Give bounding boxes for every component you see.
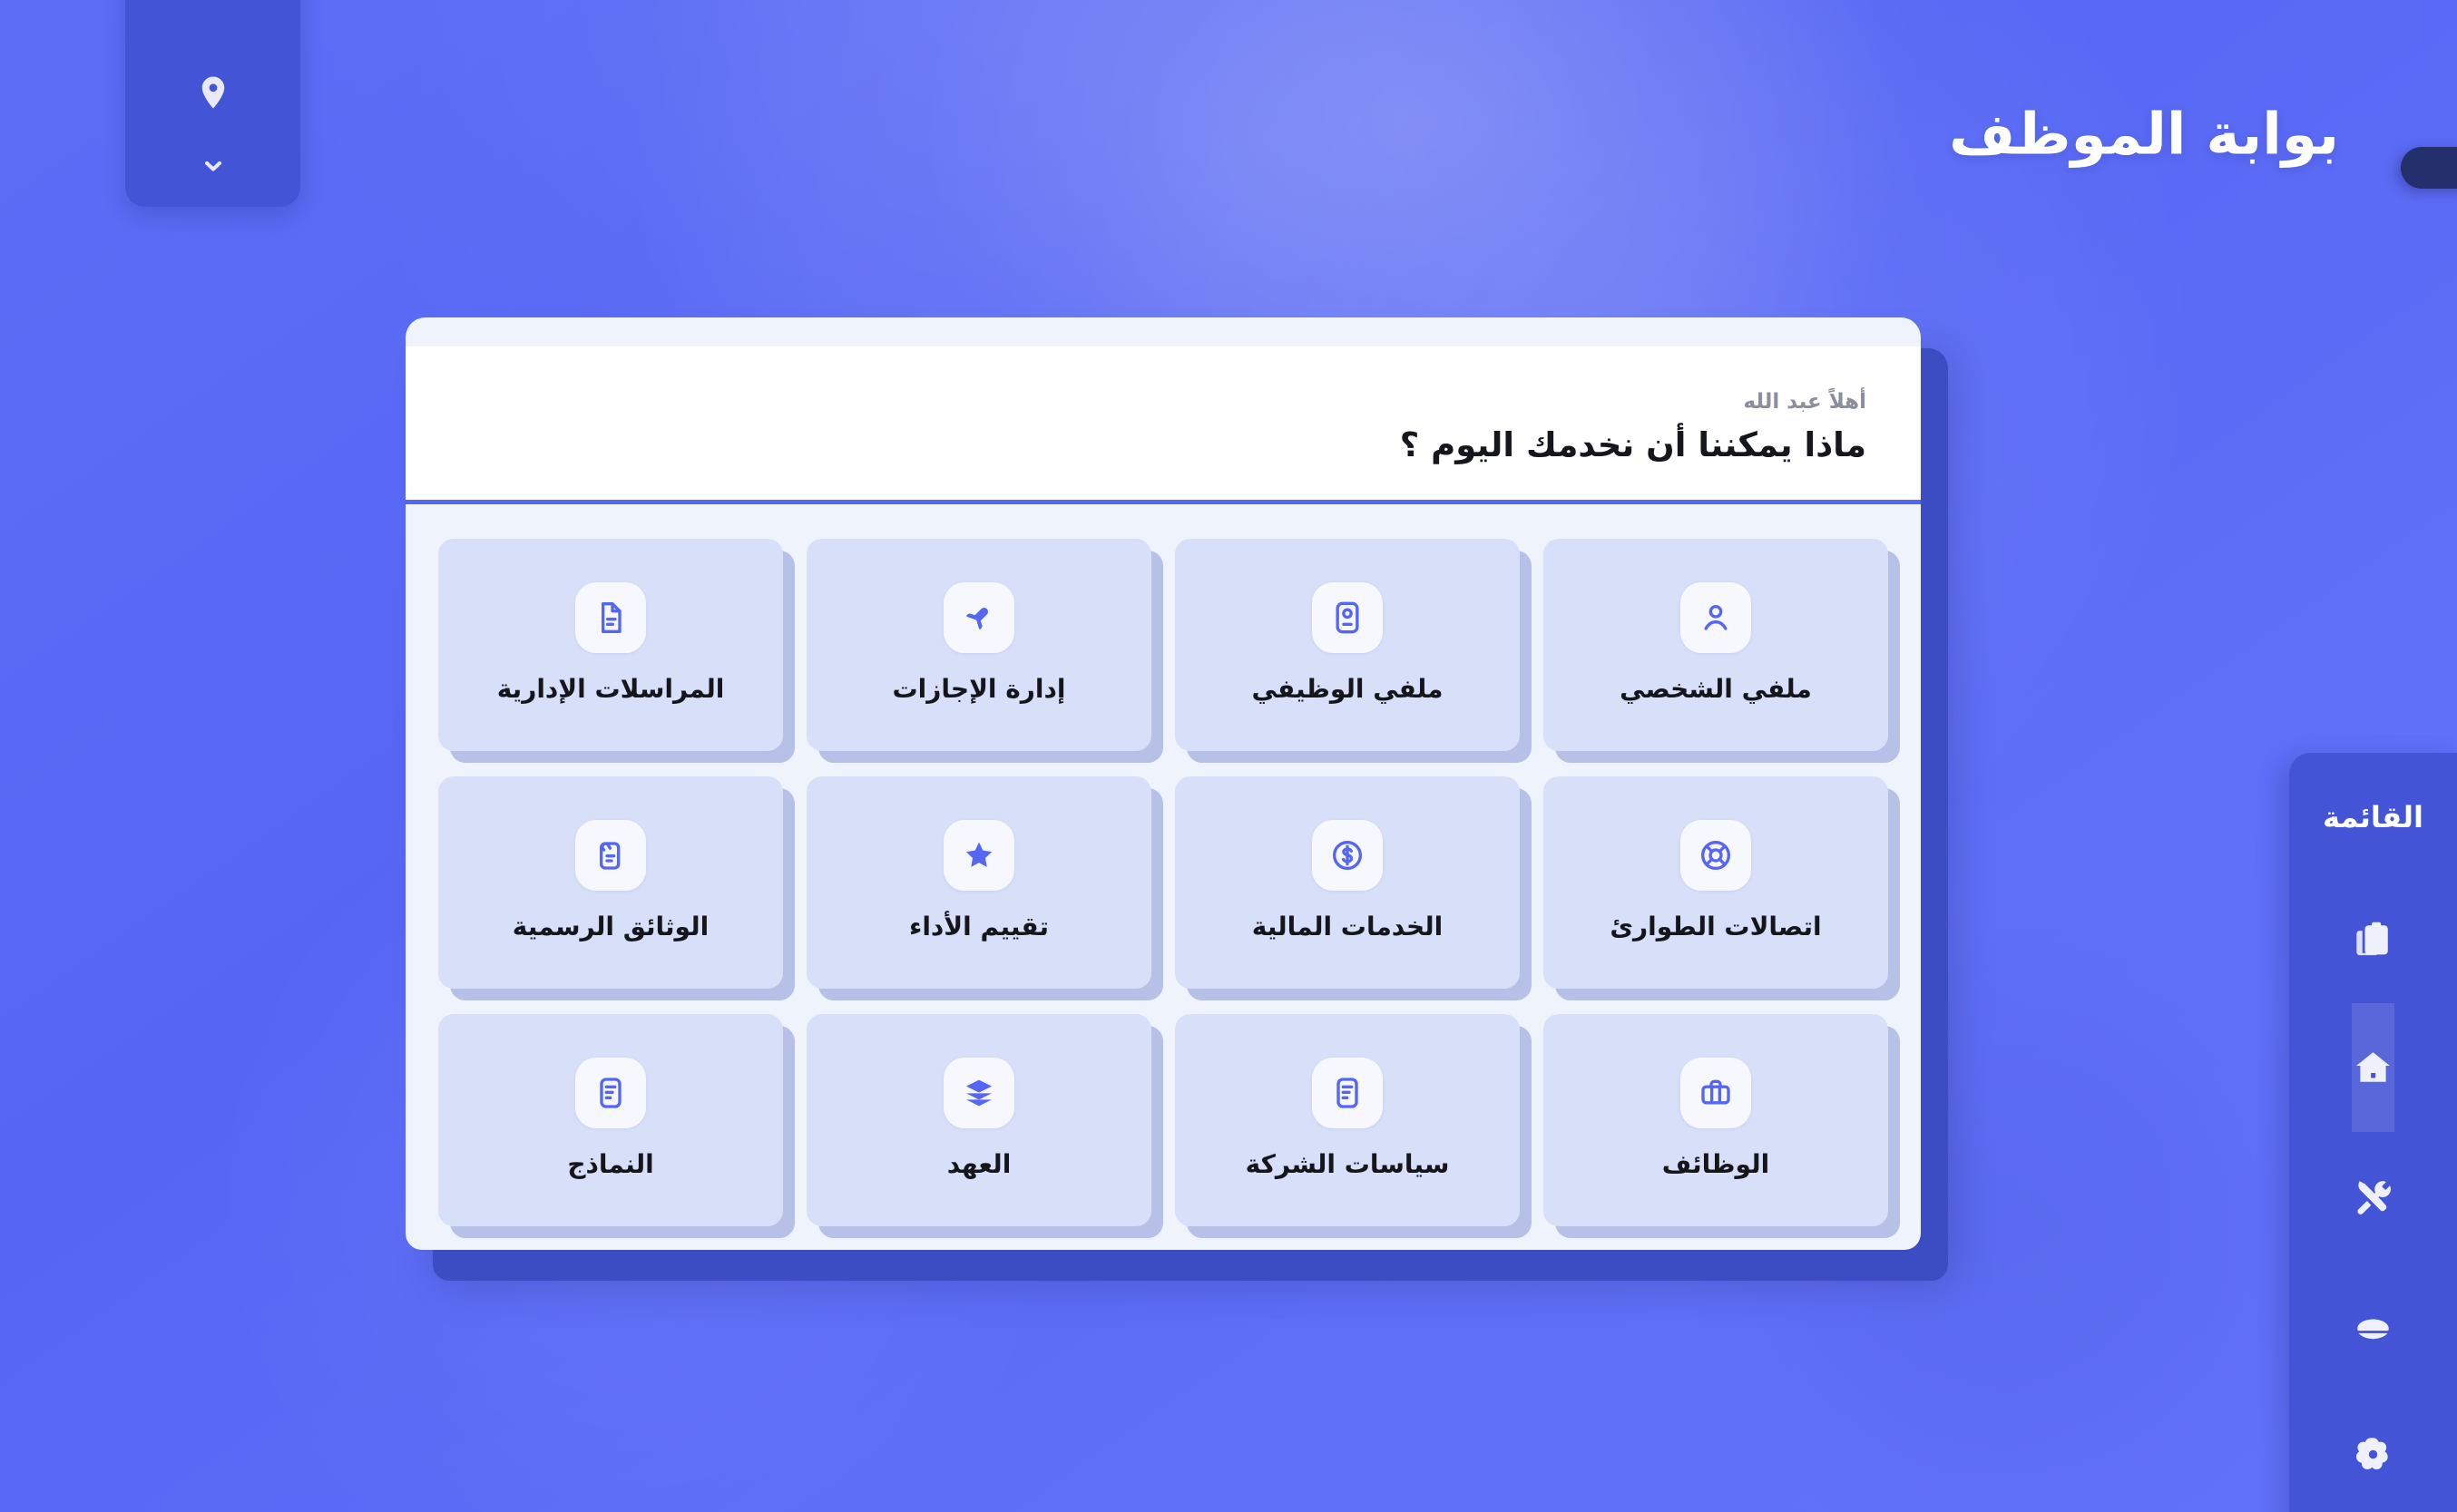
service-card[interactable]: اتصالات الطوارئ bbox=[1543, 776, 1888, 989]
service-card-label: الوثائق الرسمية bbox=[513, 911, 709, 942]
service-card[interactable]: الوثائق الرسمية bbox=[438, 776, 783, 989]
notes-icon bbox=[1312, 1058, 1383, 1128]
service-card-label: النماذج bbox=[567, 1148, 653, 1180]
service-card-label: المراسلات الإدارية bbox=[497, 673, 725, 705]
service-card-label: الوظائف bbox=[1662, 1148, 1769, 1180]
airplane-icon bbox=[944, 582, 1014, 653]
dollar-circle-icon bbox=[1312, 820, 1383, 891]
service-card-label: الخدمات المالية bbox=[1252, 911, 1444, 942]
side-menu-title: القائمة bbox=[2323, 800, 2423, 834]
location-panel[interactable] bbox=[125, 0, 300, 207]
tools-icon bbox=[2352, 1175, 2394, 1218]
page-title: بوابة الموظف bbox=[1949, 102, 2339, 168]
service-card-label: سياسات الشركة bbox=[1246, 1148, 1450, 1180]
location-pin-icon[interactable] bbox=[192, 67, 234, 118]
service-card[interactable]: سياسات الشركة bbox=[1175, 1014, 1520, 1226]
clipboard-icon bbox=[2352, 918, 2394, 961]
side-menu: القائمة bbox=[2289, 753, 2457, 1512]
home-icon bbox=[2352, 1047, 2394, 1089]
side-menu-item-home[interactable] bbox=[2352, 1003, 2394, 1132]
service-card-label: إدارة الإجازات bbox=[893, 673, 1066, 705]
employee-portal-panel: أهلاً عبد الله ماذا يمكننا أن نخدمك اليو… bbox=[406, 317, 1921, 1250]
gear-icon bbox=[2352, 1433, 2394, 1476]
side-menu-item-gear[interactable] bbox=[2352, 1390, 2394, 1512]
briefcase-icon bbox=[1680, 1058, 1751, 1128]
service-card[interactable]: ملفي الوظيفي bbox=[1175, 539, 1520, 751]
side-menu-item-clipboard[interactable] bbox=[2352, 874, 2394, 1003]
life-buoy-icon bbox=[1680, 820, 1751, 891]
chevron-down-icon[interactable] bbox=[192, 151, 234, 181]
app-root: بوابة الموظف أهلاً عبد الله ماذا يمكننا … bbox=[0, 0, 2457, 1512]
services-grid: ملفي الشخصيملفي الوظيفيإدارة الإجازاتالم… bbox=[406, 504, 1921, 1250]
service-card[interactable]: ملفي الشخصي bbox=[1543, 539, 1888, 751]
layers-icon bbox=[944, 1058, 1014, 1128]
service-card-label: اتصالات الطوارئ bbox=[1610, 911, 1821, 942]
document-clip-icon bbox=[575, 820, 646, 891]
service-card[interactable]: تقييم الأداء bbox=[807, 776, 1151, 989]
service-card[interactable]: المراسلات الإدارية bbox=[438, 539, 783, 751]
side-menu-items bbox=[2352, 874, 2394, 1512]
user-icon bbox=[1680, 582, 1751, 653]
edge-pill-decoration bbox=[2401, 147, 2457, 189]
greeting-salutation: أهلاً عبد الله bbox=[460, 388, 1866, 416]
service-card[interactable]: الوظائف bbox=[1543, 1014, 1888, 1226]
service-card-label: العهد bbox=[947, 1148, 1012, 1180]
service-card[interactable]: النماذج bbox=[438, 1014, 783, 1226]
id-card-icon bbox=[1312, 582, 1383, 653]
leaf-icon bbox=[2352, 1304, 2394, 1347]
star-icon bbox=[944, 820, 1014, 891]
service-card[interactable]: إدارة الإجازات bbox=[807, 539, 1151, 751]
service-card-label: تقييم الأداء bbox=[909, 911, 1049, 942]
greeting-header: أهلاً عبد الله ماذا يمكننا أن نخدمك اليو… bbox=[406, 346, 1921, 504]
form-icon bbox=[575, 1058, 646, 1128]
service-card-label: ملفي الشخصي bbox=[1620, 673, 1812, 705]
greeting-question: ماذا يمكننا أن نخدمك اليوم ؟ bbox=[460, 424, 1866, 467]
document-icon bbox=[575, 582, 646, 653]
service-card[interactable]: الخدمات المالية bbox=[1175, 776, 1520, 989]
service-card-label: ملفي الوظيفي bbox=[1252, 673, 1444, 705]
side-menu-item-tools[interactable] bbox=[2352, 1132, 2394, 1261]
service-card[interactable]: العهد bbox=[807, 1014, 1151, 1226]
side-menu-item-leaf[interactable] bbox=[2352, 1261, 2394, 1390]
